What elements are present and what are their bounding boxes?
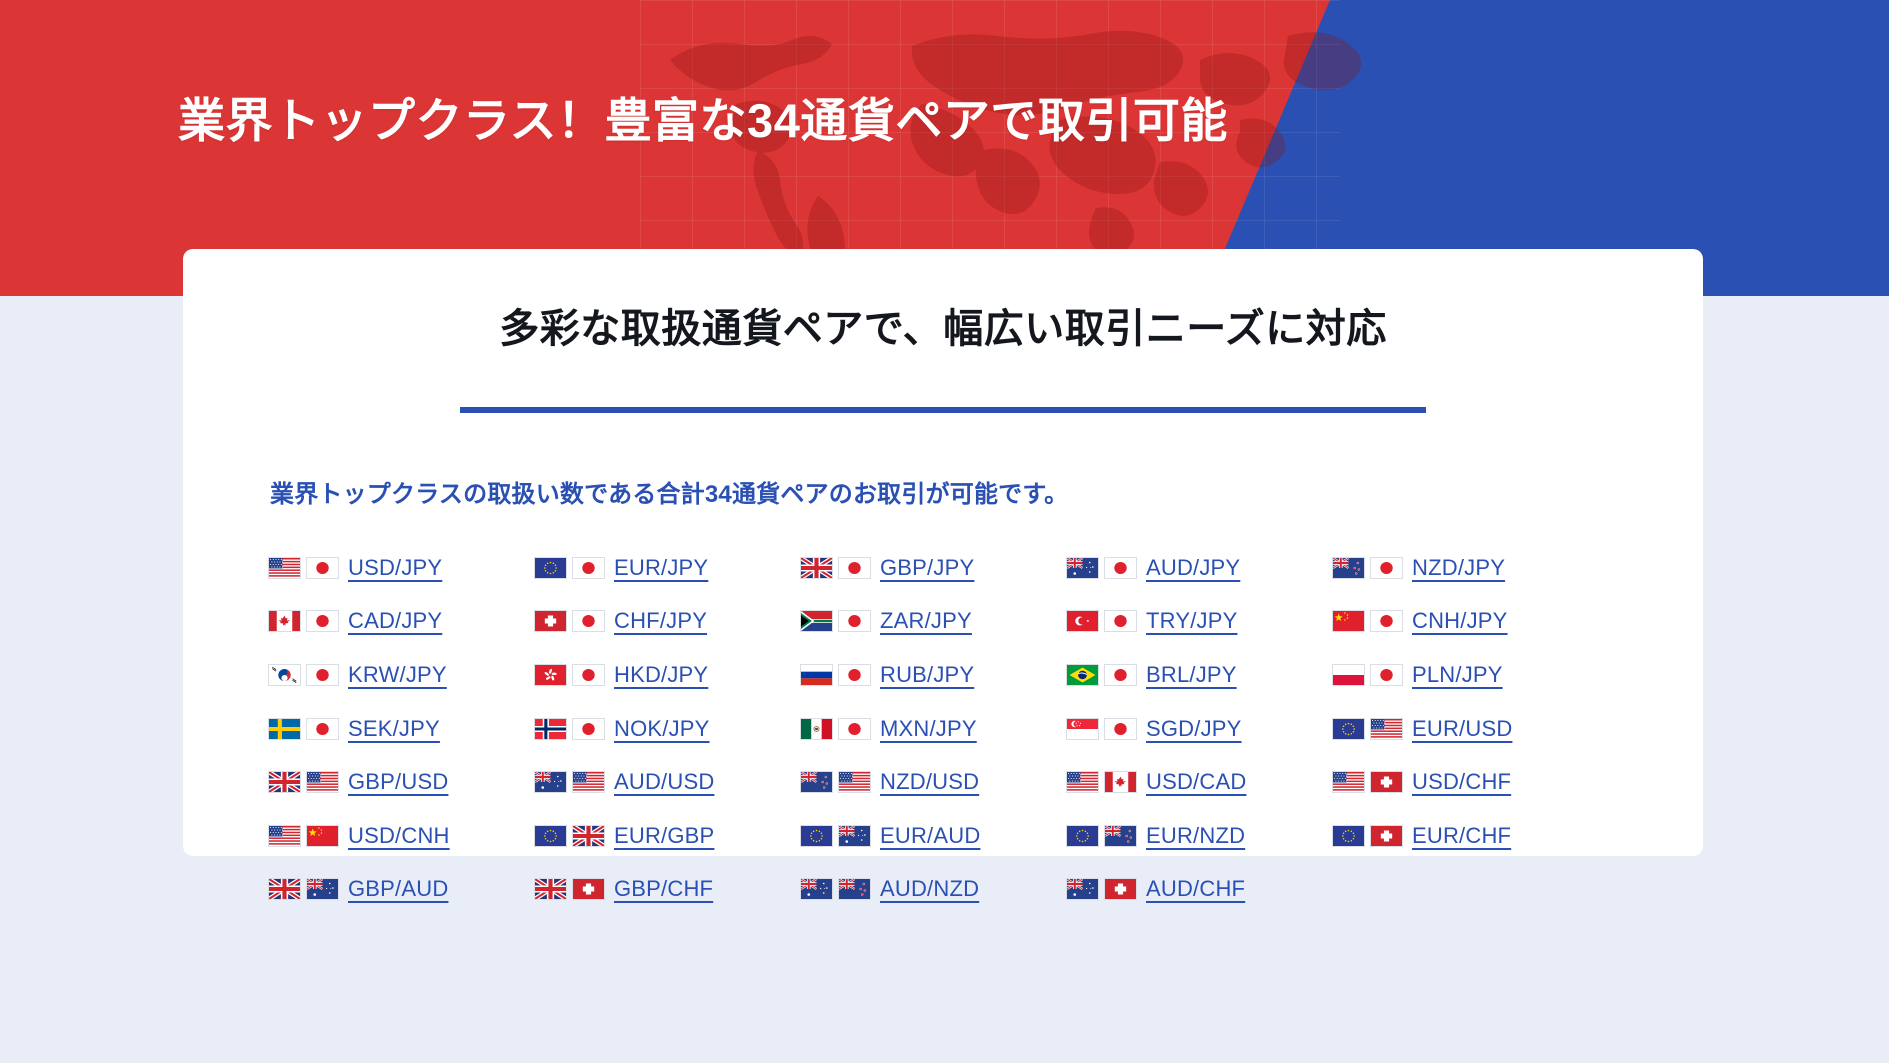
flag-china-icon xyxy=(306,825,339,847)
currency-pair-link-nzd-jpy[interactable]: NZD/JPY xyxy=(1332,541,1598,595)
currency-pair-label: CHF/JPY xyxy=(614,608,707,634)
currency-pair-link-sek-jpy[interactable]: SEK/JPY xyxy=(268,702,534,756)
hero-title: 業界トップクラス！豊富な34通貨ペアで取引可能 xyxy=(178,92,1228,151)
currency-pair-link-gbp-chf[interactable]: GBP/CHF xyxy=(534,863,800,917)
flag-japan-icon xyxy=(1370,664,1403,686)
flag-switzerland-icon xyxy=(1104,878,1137,900)
currency-pair-label: AUD/JPY xyxy=(1146,555,1240,581)
flag-pair xyxy=(1332,825,1403,847)
flag-japan-icon xyxy=(306,718,339,740)
flag-japan-icon xyxy=(1104,664,1137,686)
section-title: 多彩な取扱通貨ペアで、幅広い取引ニーズに対応 xyxy=(183,296,1703,354)
flag-united-states-icon xyxy=(1066,771,1099,793)
flag-united-kingdom-icon xyxy=(572,825,605,847)
flag-japan-icon xyxy=(306,664,339,686)
currency-pair-label: HKD/JPY xyxy=(614,662,708,688)
flag-australia-icon xyxy=(534,771,567,793)
flag-singapore-icon xyxy=(1066,718,1099,740)
flag-pair xyxy=(1332,771,1403,793)
currency-pair-label: RUB/JPY xyxy=(880,662,974,688)
flag-pair xyxy=(800,664,871,686)
currency-pair-link-eur-aud[interactable]: EUR/AUD xyxy=(800,809,1066,863)
currency-pair-link-nok-jpy[interactable]: NOK/JPY xyxy=(534,702,800,756)
flag-united-states-icon xyxy=(306,771,339,793)
flag-pair xyxy=(1066,557,1137,579)
flag-pair xyxy=(1066,664,1137,686)
flag-japan-icon xyxy=(1104,557,1137,579)
flag-pair xyxy=(534,557,605,579)
flag-pair xyxy=(268,771,339,793)
flag-japan-icon xyxy=(838,557,871,579)
currency-pair-label: CNH/JPY xyxy=(1412,608,1508,634)
flag-new-zealand-icon xyxy=(1104,825,1137,847)
flag-pair xyxy=(1332,610,1403,632)
currency-pair-link-aud-chf[interactable]: AUD/CHF xyxy=(1066,863,1332,917)
currency-pair-label: USD/CAD xyxy=(1146,769,1246,795)
flag-pair xyxy=(1066,878,1137,900)
currency-pair-link-sgd-jpy[interactable]: SGD/JPY xyxy=(1066,702,1332,756)
currency-pair-label: SGD/JPY xyxy=(1146,716,1242,742)
flag-australia-icon xyxy=(306,878,339,900)
flag-canada-icon xyxy=(268,610,301,632)
flag-pair xyxy=(268,878,339,900)
flag-mexico-icon xyxy=(800,718,833,740)
flag-european-union-icon xyxy=(1332,825,1365,847)
flag-pair xyxy=(268,718,339,740)
flag-south-africa-icon xyxy=(800,610,833,632)
flag-european-union-icon xyxy=(534,825,567,847)
currency-pair-label: AUD/USD xyxy=(614,769,714,795)
flag-united-kingdom-icon xyxy=(800,557,833,579)
flag-pair xyxy=(268,825,339,847)
flag-pair xyxy=(1332,557,1403,579)
flag-pair xyxy=(534,718,605,740)
currency-pair-link-zar-jpy[interactable]: ZAR/JPY xyxy=(800,595,1066,649)
flag-japan-icon xyxy=(1370,557,1403,579)
currency-pair-link-try-jpy[interactable]: TRY/JPY xyxy=(1066,595,1332,649)
flag-japan-icon xyxy=(1370,610,1403,632)
currency-pair-label: TRY/JPY xyxy=(1146,608,1237,634)
flag-canada-icon xyxy=(1104,771,1137,793)
currency-pair-link-aud-usd[interactable]: AUD/USD xyxy=(534,755,800,809)
flag-australia-icon xyxy=(1066,557,1099,579)
currency-pair-link-usd-jpy[interactable]: USD/JPY xyxy=(268,541,534,595)
flag-european-union-icon xyxy=(1332,718,1365,740)
flag-japan-icon xyxy=(838,610,871,632)
flag-pair xyxy=(1066,771,1137,793)
flag-japan-icon xyxy=(572,664,605,686)
flag-switzerland-icon xyxy=(572,878,605,900)
currency-pair-link-eur-nzd[interactable]: EUR/NZD xyxy=(1066,809,1332,863)
flag-hong-kong-icon xyxy=(534,664,567,686)
currency-pair-label: AUD/NZD xyxy=(880,876,979,902)
flag-united-states-icon xyxy=(268,825,301,847)
currency-pair-label: BRL/JPY xyxy=(1146,662,1237,688)
currency-pair-label: GBP/AUD xyxy=(348,876,448,902)
currency-pair-link-gbp-jpy[interactable]: GBP/JPY xyxy=(800,541,1066,595)
currency-pair-link-eur-jpy[interactable]: EUR/JPY xyxy=(534,541,800,595)
flag-pair xyxy=(1066,610,1137,632)
currency-pair-label: CAD/JPY xyxy=(348,608,442,634)
flag-japan-icon xyxy=(1104,610,1137,632)
flag-european-union-icon xyxy=(800,825,833,847)
currency-pair-link-cad-jpy[interactable]: CAD/JPY xyxy=(268,595,534,649)
flag-australia-icon xyxy=(1066,878,1099,900)
flag-pair xyxy=(800,771,871,793)
currency-pair-card: 多彩な取扱通貨ペアで、幅広い取引ニーズに対応 業界トップクラスの取扱い数である合… xyxy=(183,249,1703,856)
currency-pair-link-krw-jpy[interactable]: KRW/JPY xyxy=(268,648,534,702)
flag-pair xyxy=(268,664,339,686)
flag-european-union-icon xyxy=(1066,825,1099,847)
flag-new-zealand-icon xyxy=(1332,557,1365,579)
flag-pair xyxy=(800,718,871,740)
currency-pair-label: EUR/GBP xyxy=(614,823,714,849)
currency-pair-label: GBP/CHF xyxy=(614,876,713,902)
flag-new-zealand-icon xyxy=(838,878,871,900)
currency-pair-label: SEK/JPY xyxy=(348,716,440,742)
currency-pair-label: MXN/JPY xyxy=(880,716,977,742)
flag-united-kingdom-icon xyxy=(268,771,301,793)
currency-pair-link-aud-nzd[interactable]: AUD/NZD xyxy=(800,863,1066,917)
flag-norway-icon xyxy=(534,718,567,740)
flag-pair xyxy=(1066,718,1137,740)
flag-china-icon xyxy=(1332,610,1365,632)
flag-south-korea-icon xyxy=(268,664,301,686)
flag-pair xyxy=(268,557,339,579)
flag-united-kingdom-icon xyxy=(534,878,567,900)
flag-japan-icon xyxy=(572,610,605,632)
flag-japan-icon xyxy=(572,557,605,579)
flag-united-states-icon xyxy=(268,557,301,579)
flag-pair xyxy=(534,610,605,632)
currency-pair-label: NZD/USD xyxy=(880,769,979,795)
currency-pair-label: PLN/JPY xyxy=(1412,662,1503,688)
flag-pair xyxy=(800,610,871,632)
currency-pair-link-eur-chf[interactable]: EUR/CHF xyxy=(1332,809,1598,863)
currency-pair-link-pln-jpy[interactable]: PLN/JPY xyxy=(1332,648,1598,702)
currency-pair-label: NZD/JPY xyxy=(1412,555,1505,581)
currency-pair-label: USD/CHF xyxy=(1412,769,1511,795)
flag-pair xyxy=(800,557,871,579)
flag-united-states-icon xyxy=(572,771,605,793)
currency-pair-link-nzd-usd[interactable]: NZD/USD xyxy=(800,755,1066,809)
flag-japan-icon xyxy=(838,664,871,686)
flag-pair xyxy=(800,825,871,847)
currency-pair-label: EUR/AUD xyxy=(880,823,980,849)
flag-new-zealand-icon xyxy=(800,771,833,793)
currency-pair-link-rub-jpy[interactable]: RUB/JPY xyxy=(800,648,1066,702)
currency-pair-label: NOK/JPY xyxy=(614,716,710,742)
flag-switzerland-icon xyxy=(1370,771,1403,793)
flag-european-union-icon xyxy=(534,557,567,579)
flag-japan-icon xyxy=(306,557,339,579)
currency-pair-link-usd-cad[interactable]: USD/CAD xyxy=(1066,755,1332,809)
currency-pair-label: KRW/JPY xyxy=(348,662,447,688)
currency-pair-label: EUR/NZD xyxy=(1146,823,1245,849)
flag-australia-icon xyxy=(800,878,833,900)
flag-united-states-icon xyxy=(1332,771,1365,793)
flag-united-states-icon xyxy=(1370,718,1403,740)
flag-turkey-icon xyxy=(1066,610,1099,632)
flag-pair xyxy=(268,610,339,632)
currency-pair-label: GBP/USD xyxy=(348,769,448,795)
flag-japan-icon xyxy=(1104,718,1137,740)
currency-pair-link-eur-usd[interactable]: EUR/USD xyxy=(1332,702,1598,756)
currency-pair-link-usd-chf[interactable]: USD/CHF xyxy=(1332,755,1598,809)
currency-pair-link-gbp-usd[interactable]: GBP/USD xyxy=(268,755,534,809)
flag-pair xyxy=(1066,825,1137,847)
flag-russia-icon xyxy=(800,664,833,686)
currency-pair-link-brl-jpy[interactable]: BRL/JPY xyxy=(1066,648,1332,702)
flag-pair xyxy=(1332,718,1403,740)
currency-pair-label: AUD/CHF xyxy=(1146,876,1245,902)
flag-pair xyxy=(534,878,605,900)
currency-pair-link-usd-cnh[interactable]: USD/CNH xyxy=(268,809,534,863)
currency-pair-label: GBP/JPY xyxy=(880,555,974,581)
flag-poland-icon xyxy=(1332,664,1365,686)
currency-pair-link-cnh-jpy[interactable]: CNH/JPY xyxy=(1332,595,1598,649)
flag-pair xyxy=(800,878,871,900)
currency-pair-label: USD/CNH xyxy=(348,823,450,849)
section-title-underline xyxy=(460,407,1426,413)
currency-pair-link-chf-jpy[interactable]: CHF/JPY xyxy=(534,595,800,649)
currency-pair-link-hkd-jpy[interactable]: HKD/JPY xyxy=(534,648,800,702)
flag-australia-icon xyxy=(838,825,871,847)
flag-united-states-icon xyxy=(838,771,871,793)
currency-pair-label: USD/JPY xyxy=(348,555,442,581)
currency-pair-link-eur-gbp[interactable]: EUR/GBP xyxy=(534,809,800,863)
currency-pair-label: EUR/CHF xyxy=(1412,823,1511,849)
flag-japan-icon xyxy=(572,718,605,740)
currency-pair-link-aud-jpy[interactable]: AUD/JPY xyxy=(1066,541,1332,595)
currency-pair-link-gbp-aud[interactable]: GBP/AUD xyxy=(268,863,534,917)
flag-switzerland-icon xyxy=(534,610,567,632)
flag-japan-icon xyxy=(306,610,339,632)
currency-pair-label: EUR/USD xyxy=(1412,716,1512,742)
currency-pair-grid: USD/JPY EUR/JPY GBP/JPY AUD/JPY NZD/JPY … xyxy=(268,541,1628,916)
flag-japan-icon xyxy=(838,718,871,740)
flag-switzerland-icon xyxy=(1370,825,1403,847)
currency-pair-label: EUR/JPY xyxy=(614,555,708,581)
currency-pair-link-mxn-jpy[interactable]: MXN/JPY xyxy=(800,702,1066,756)
flag-pair xyxy=(1332,664,1403,686)
flag-pair xyxy=(534,825,605,847)
lead-text: 業界トップクラスの取扱い数である合計34通貨ペアのお取引が可能です。 xyxy=(270,474,1068,509)
flag-united-kingdom-icon xyxy=(268,878,301,900)
flag-pair xyxy=(534,771,605,793)
flag-brazil-icon xyxy=(1066,664,1099,686)
flag-sweden-icon xyxy=(268,718,301,740)
flag-pair xyxy=(534,664,605,686)
currency-pair-label: ZAR/JPY xyxy=(880,608,972,634)
